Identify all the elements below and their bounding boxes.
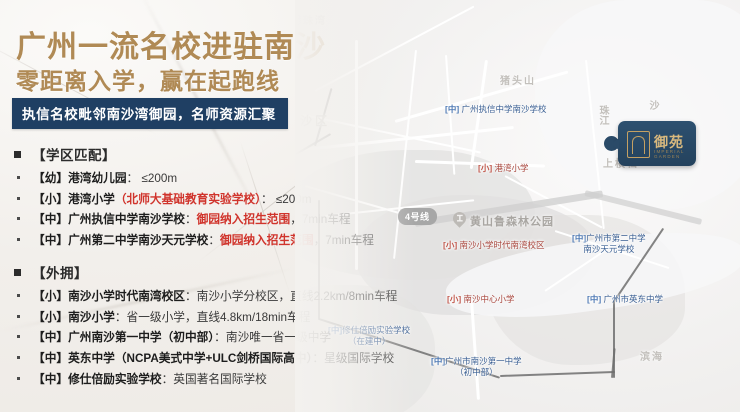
dot-bullet-icon <box>17 176 20 179</box>
dot-bullet-icon <box>17 377 20 380</box>
dot-bullet-icon <box>17 238 20 241</box>
map-label-nansha-no1: [中]广州市南沙第一中学 （初中部） <box>431 356 522 377</box>
list-item: 【中】英东中学（NCPA美式中学+ULC剑桥国际高中）：星级国际学校 <box>14 353 397 365</box>
label-tag: [中] <box>587 294 601 304</box>
list-item: 【中】广州执信中学南沙学校：御园纳入招生范围，7min车程 <box>14 214 374 226</box>
school-marker-primary[interactable] <box>533 222 546 237</box>
page-title-line2: 零距离入学，赢在起跑线 <box>16 62 280 96</box>
estate-logo-icon <box>627 131 650 158</box>
map-road <box>315 6 475 92</box>
map-highway <box>613 300 615 378</box>
map-area-label: 滨海 <box>640 348 664 363</box>
estate-subname: IMPERIAL GARDEN <box>654 149 696 159</box>
map-label-yingdong: [中] 广州市英东中学 <box>587 294 663 305</box>
school-marker-middle[interactable] <box>479 336 492 351</box>
dot-bullet-icon <box>17 356 20 359</box>
map-water <box>535 0 740 210</box>
label-name: 广州执信中学南沙学校 <box>462 104 547 114</box>
school-marker-middle[interactable] <box>488 117 501 132</box>
school-marker-middle[interactable] <box>559 236 572 251</box>
label-tag: [小] <box>443 240 457 250</box>
label-name: 南沙中心小学 <box>464 294 515 304</box>
list-item: 【中】广州南沙第一中学（初中部）：南沙唯一省一级中学 <box>14 332 397 344</box>
list-item: 【中】广州第二中学南沙天元学校：御园纳入招生范围，7min车程 <box>14 235 374 247</box>
label-name-2: 南沙天元学校 <box>572 244 646 255</box>
label-name: 广州市第二中学 <box>586 233 646 243</box>
map-label-nansha-center: [小] 南沙中心小学 <box>447 294 515 305</box>
school-marker-middle[interactable] <box>426 328 439 343</box>
dot-bullet-icon <box>17 217 20 220</box>
square-bullet-icon <box>14 151 21 158</box>
section-heading: 【外拥】 <box>14 262 397 282</box>
label-tag: [中] <box>445 104 459 114</box>
metro-line-badge[interactable]: 4号线 <box>398 208 437 225</box>
map-label-zhixin: [中] 广州执信中学南沙学校 <box>445 104 547 115</box>
dot-bullet-icon <box>17 197 20 200</box>
list-item: 【中】修仕倍励实验学校：英国著名国际学校 <box>14 374 397 386</box>
section-surrounding-schools: 【外拥】 【小】南沙小学时代南湾校区：南沙小学分校区，直线2.2km/8min车… <box>14 262 397 386</box>
label-name: 港湾小学 <box>495 163 529 173</box>
label-tag: [小] <box>447 294 461 304</box>
list-item: 【小】南沙小学：省一级小学，直线4.8km/18min车程 <box>14 312 397 324</box>
dot-bullet-icon <box>17 315 20 318</box>
school-marker-primary[interactable] <box>480 310 493 325</box>
dot-bullet-icon <box>17 335 20 338</box>
map-district-label: 南沙区 <box>295 112 330 129</box>
page-title-line1: 广州一流名校进驻南沙 <box>16 22 326 66</box>
map-area-label: 猪头山 <box>500 72 536 87</box>
poster-canvas: 南沙区 猪头山 珠江 沙 上横档 滨海 明珠湾 4号线 黄山鲁森林公园 [中] … <box>0 0 740 412</box>
map-area-label: 珠江 <box>595 105 610 125</box>
label-tag: [中] <box>572 233 586 243</box>
label-name-2: （初中部） <box>431 367 522 378</box>
map-label-nansha-shidai: [小] 南沙小学时代南湾校区 <box>443 240 545 251</box>
subtitle-banner: 执信名校毗邻南沙湾御园，名师资源汇聚 <box>12 98 288 129</box>
label-name: 南沙小学时代南湾校区 <box>460 240 545 250</box>
map-label-gangwan-primary: [小] 港湾小学 <box>478 163 529 174</box>
label-tag: [小] <box>478 163 492 173</box>
list-item: 【小】港湾小学（北师大基础教育实验学校）： ≤200m <box>14 194 374 206</box>
section-heading: 【学区匹配】 <box>14 144 374 164</box>
school-marker-middle[interactable] <box>611 272 624 287</box>
list-item: 【幼】港湾幼儿园： ≤200m <box>14 173 374 185</box>
square-bullet-icon <box>14 269 21 276</box>
section-school-district: 【学区匹配】 【幼】港湾幼儿园： ≤200m 【小】港湾小学（北师大基础教育实验… <box>14 144 374 247</box>
map-label-no2-tianyuan: [中]广州市第二中学 南沙天元学校 <box>572 233 646 254</box>
label-tag: [中] <box>431 356 445 366</box>
label-name: 广州市南沙第一中学 <box>445 356 522 366</box>
estate-badge[interactable]: 御苑 IMPERIAL GARDEN <box>618 121 696 166</box>
dot-bullet-icon <box>17 294 20 297</box>
school-marker-primary[interactable] <box>495 143 508 158</box>
label-name: 广州市英东中学 <box>604 294 664 304</box>
map-area-label: 沙 <box>645 100 660 110</box>
list-item: 【小】南沙小学时代南湾校区：南沙小学分校区，直线2.2km/8min车程 <box>14 291 397 303</box>
